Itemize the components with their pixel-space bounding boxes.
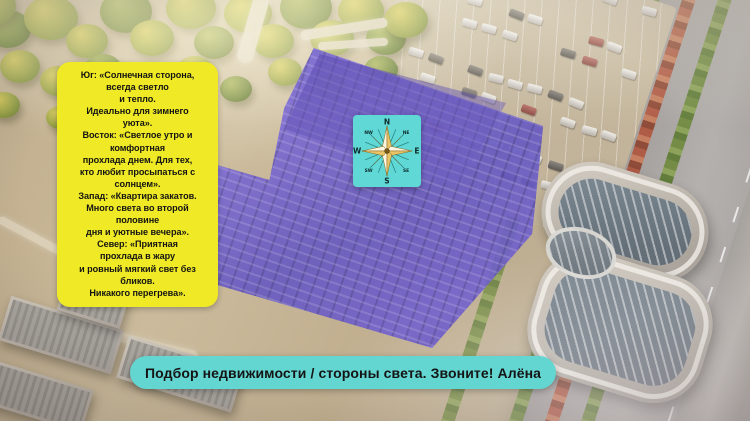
compass-label-se: SE	[403, 168, 409, 174]
compass-rose-card: N E S W NW NE SW SE	[353, 115, 421, 187]
compass-label-n: N	[384, 117, 390, 126]
compass-label-e: E	[414, 147, 419, 156]
cta-banner-text: Подбор недвижимости / стороны света. Зво…	[145, 365, 541, 381]
compass-label-w: W	[353, 147, 361, 156]
highlighted-building-overlay	[188, 48, 558, 348]
compass-label-nw: NW	[364, 130, 373, 136]
compass-label-s: S	[384, 177, 389, 186]
cta-banner[interactable]: Подбор недвижимости / стороны света. Зво…	[130, 356, 556, 389]
compass-rose-icon: N E S W NW NE SW SE	[353, 115, 421, 187]
highlight-outline	[188, 48, 558, 348]
compass-label-ne: NE	[403, 130, 410, 136]
info-card: Юг: «Солнечная сторона, всегда светло и …	[57, 62, 218, 307]
compass-label-sw: SW	[365, 168, 373, 174]
poster-canvas: N E S W NW NE SW SE Юг: «Солнечная сторо…	[0, 0, 750, 421]
info-card-text: Юг: «Солнечная сторона, всегда светло и …	[63, 69, 212, 299]
